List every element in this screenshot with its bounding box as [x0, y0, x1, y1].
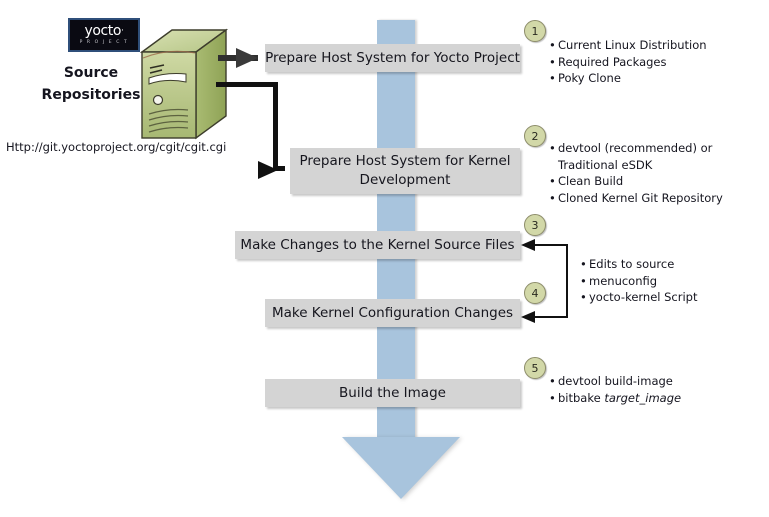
source-label-line1: Source	[32, 62, 150, 84]
step-number-circle-4: 4	[524, 282, 546, 304]
bullet-glyph: •	[580, 256, 589, 273]
main-flow-arrow-head	[342, 437, 460, 499]
diagram-canvas: yocto· P R O J E C T Source Repositories…	[0, 0, 769, 517]
feedback-arrowhead-to-step3	[521, 239, 535, 251]
connector-server-to-step2-arrowhead	[258, 161, 278, 179]
step34-bullet-2: menuconfig	[589, 273, 760, 290]
step1-bullet-1: Current Linux Distribution	[558, 37, 764, 54]
list-item: • Poky Clone	[549, 70, 764, 87]
feedback-bracket-top-line	[534, 244, 568, 246]
bullet-glyph: •	[549, 70, 558, 87]
step-number-3-text: 3	[532, 219, 539, 232]
process-box-2-label-line1: Prepare Host System for Kernel	[299, 152, 510, 171]
list-item: • bitbake target_image	[549, 390, 764, 407]
list-item: • Required Packages	[549, 54, 764, 71]
logo-wordmark: yocto·	[84, 25, 123, 38]
process-box-4-label: Make Kernel Configuration Changes	[272, 304, 513, 323]
step1-bullet-3: Poky Clone	[558, 70, 764, 87]
step5-bullet-2-target: target_image	[604, 391, 681, 405]
logo-dot: ·	[121, 26, 123, 36]
connector-server-to-step1-arrowhead	[236, 48, 258, 68]
step5-bullet-2-command: bitbake	[558, 391, 604, 405]
list-item: • Clean Build	[549, 173, 764, 190]
process-box-make-kernel-config-changes[interactable]: Make Kernel Configuration Changes	[265, 299, 520, 327]
list-item: • Current Linux Distribution	[549, 37, 764, 54]
connector-server-to-step2-vertical	[273, 82, 278, 169]
source-label-line2: Repositories	[32, 84, 150, 106]
bullet-glyph: •	[549, 37, 558, 54]
step2-bullet-2: Clean Build	[558, 173, 764, 190]
bullet-glyph: •	[549, 373, 558, 390]
step1-bullet-2: Required Packages	[558, 54, 764, 71]
step1-bullet-list: • Current Linux Distribution • Required …	[549, 37, 764, 87]
list-item: • devtool build-image	[549, 373, 764, 390]
list-item: • devtool (recommended) or Traditional e…	[549, 140, 764, 173]
step2-bullet-list: • devtool (recommended) or Traditional e…	[549, 140, 764, 206]
process-box-1-label: Prepare Host System for Yocto Project	[265, 49, 520, 68]
step-number-4-text: 4	[532, 287, 539, 300]
list-item: • menuconfig	[580, 273, 760, 290]
feedback-arrowhead-to-step4	[521, 311, 535, 323]
process-box-build-the-image[interactable]: Build the Image	[265, 379, 520, 407]
connector-server-to-step2-horizontal	[216, 82, 278, 87]
bullet-glyph: •	[580, 273, 589, 290]
bullet-glyph: •	[549, 190, 558, 207]
process-box-prepare-host-yocto[interactable]: Prepare Host System for Yocto Project	[265, 44, 520, 72]
bullet-glyph: •	[549, 140, 558, 157]
step2-bullet-1: devtool (recommended) or Traditional eSD…	[558, 140, 764, 173]
step34-bullet-list: • Edits to source • menuconfig • yocto-k…	[580, 256, 760, 306]
feedback-bracket-bottom-line	[534, 316, 568, 318]
step-number-circle-5: 5	[524, 357, 546, 379]
yocto-project-logo: yocto· P R O J E C T	[68, 18, 140, 52]
step5-bullet-2: bitbake target_image	[558, 390, 764, 407]
process-box-3-label: Make Changes to the Kernel Source Files	[240, 236, 514, 255]
bullet-glyph: •	[549, 390, 558, 407]
bullet-glyph: •	[549, 173, 558, 190]
step-number-2-text: 2	[532, 130, 539, 143]
step5-bullet-list: • devtool build-image • bitbake target_i…	[549, 373, 764, 406]
list-item: • Cloned Kernel Git Repository	[549, 190, 764, 207]
step34-bullet-3: yocto-kernel Script	[589, 289, 760, 306]
logo-word-text: yocto	[84, 23, 121, 39]
process-box-prepare-host-kernel[interactable]: Prepare Host System for Kernel Developme…	[290, 148, 520, 194]
step-number-circle-3: 3	[524, 214, 546, 236]
step-number-circle-2: 2	[524, 125, 546, 147]
step34-bullet-1: Edits to source	[589, 256, 760, 273]
source-repositories-label: Source Repositories	[32, 62, 150, 106]
main-flow-arrow-shaft	[377, 20, 415, 440]
process-box-5-label: Build the Image	[339, 384, 446, 403]
step-number-1-text: 1	[532, 25, 539, 38]
list-item: • Edits to source	[580, 256, 760, 273]
feedback-bracket-vertical	[566, 244, 568, 318]
list-item: • yocto-kernel Script	[580, 289, 760, 306]
step2-bullet-3: Cloned Kernel Git Repository	[558, 190, 764, 207]
step5-bullet-1: devtool build-image	[558, 373, 764, 390]
bullet-glyph: •	[580, 289, 589, 306]
logo-subtext: P R O J E C T	[80, 39, 129, 46]
process-box-make-kernel-source-changes[interactable]: Make Changes to the Kernel Source Files	[235, 231, 520, 259]
process-box-2-label-line2: Development	[299, 171, 510, 190]
step-number-5-text: 5	[532, 362, 539, 375]
bullet-glyph: •	[549, 54, 558, 71]
step-number-circle-1: 1	[524, 20, 546, 42]
